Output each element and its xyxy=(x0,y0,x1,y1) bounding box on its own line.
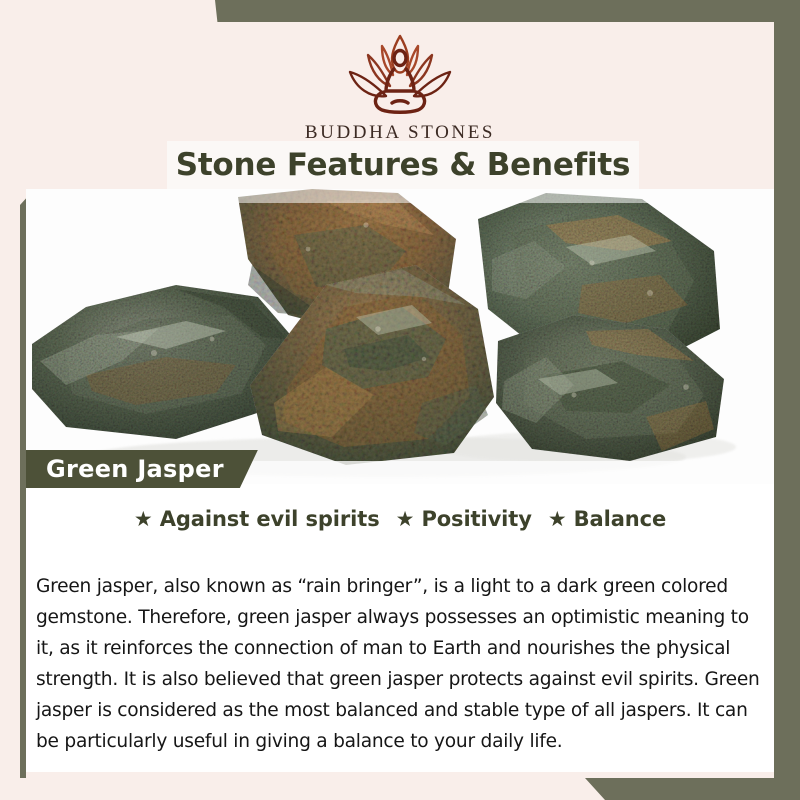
feature-label-2: Balance xyxy=(574,507,667,531)
title-banner: Stone Features & Benefits xyxy=(167,141,639,189)
stone-description: Green jasper, also known as “rain bringe… xyxy=(36,571,770,757)
feature-label-0: Against evil spirits xyxy=(160,507,380,531)
star-icon: ★ xyxy=(396,509,415,530)
stone-photo xyxy=(26,189,774,484)
infographic-poster: BUDDHA STONES Stone Features & Benefits xyxy=(0,0,800,800)
lotus-meditation-icon xyxy=(334,28,466,120)
feature-list: ★ Against evil spirits ★ Positivity ★ Ba… xyxy=(26,507,774,531)
feature-item-1: ★ Positivity xyxy=(396,507,532,531)
body-panel: ★ Against evil spirits ★ Positivity ★ Ba… xyxy=(26,484,774,772)
brand-block: BUDDHA STONES xyxy=(26,28,774,144)
feature-item-0: ★ Against evil spirits xyxy=(134,507,380,531)
stone-name-label: Green Jasper xyxy=(46,455,224,483)
star-icon: ★ xyxy=(134,509,153,530)
page-title: Stone Features & Benefits xyxy=(176,147,631,183)
bottom-pink-strip xyxy=(26,772,774,778)
stone-name-banner: Green Jasper xyxy=(26,450,258,488)
feature-label-1: Positivity xyxy=(421,507,531,531)
star-icon: ★ xyxy=(548,509,567,530)
feature-item-2: ★ Balance xyxy=(548,507,666,531)
